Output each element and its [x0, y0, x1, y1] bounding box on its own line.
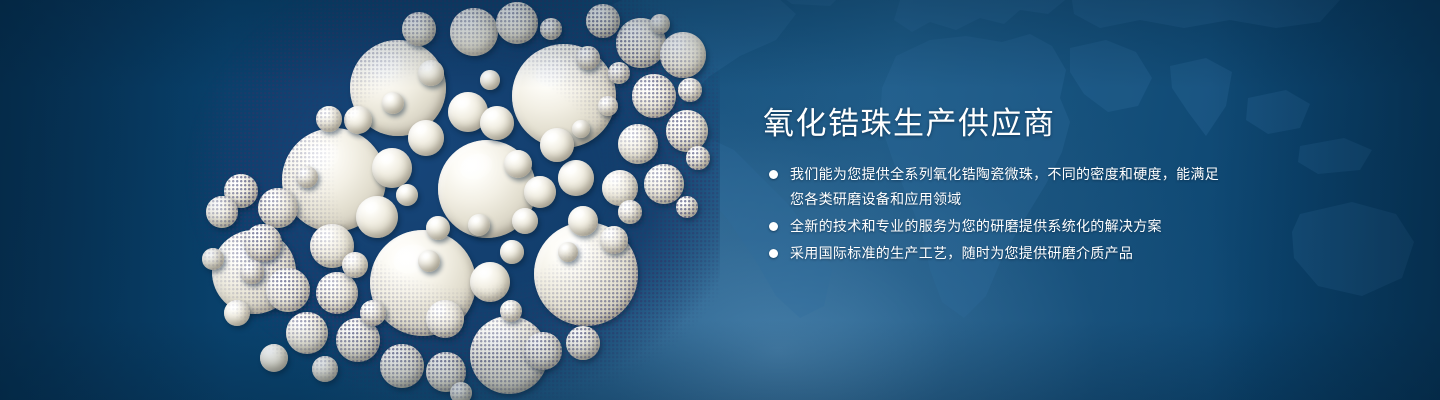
list-item-text: 我们能为您提供全系列氧化锆陶瓷微珠，不同的密度和硬度，能满足您各类研磨设备和应用… — [790, 166, 1219, 207]
list-item: 全新的技术和专业的服务为您的研磨提供系统化的解决方案 — [763, 214, 1233, 239]
banner-headline: 氧化锆珠生产供应商 — [763, 104, 1233, 144]
hero-banner: 氧化锆珠生产供应商 我们能为您提供全系列氧化锆陶瓷微珠，不同的密度和硬度，能满足… — [0, 0, 1440, 400]
list-item-text: 采用国际标准的生产工艺，随时为您提供研磨介质产品 — [790, 245, 1133, 261]
list-item: 我们能为您提供全系列氧化锆陶瓷微珠，不同的密度和硬度，能满足您各类研磨设备和应用… — [763, 162, 1233, 212]
bullet-dot-icon — [769, 222, 778, 231]
list-item: 采用国际标准的生产工艺，随时为您提供研磨介质产品 — [763, 241, 1233, 266]
banner-copy: 氧化锆珠生产供应商 我们能为您提供全系列氧化锆陶瓷微珠，不同的密度和硬度，能满足… — [763, 104, 1233, 268]
bullet-dot-icon — [769, 249, 778, 258]
list-item-text: 全新的技术和专业的服务为您的研磨提供系统化的解决方案 — [790, 218, 1162, 234]
feature-list: 我们能为您提供全系列氧化锆陶瓷微珠，不同的密度和硬度，能满足您各类研磨设备和应用… — [763, 162, 1233, 266]
bullet-dot-icon — [769, 170, 778, 179]
